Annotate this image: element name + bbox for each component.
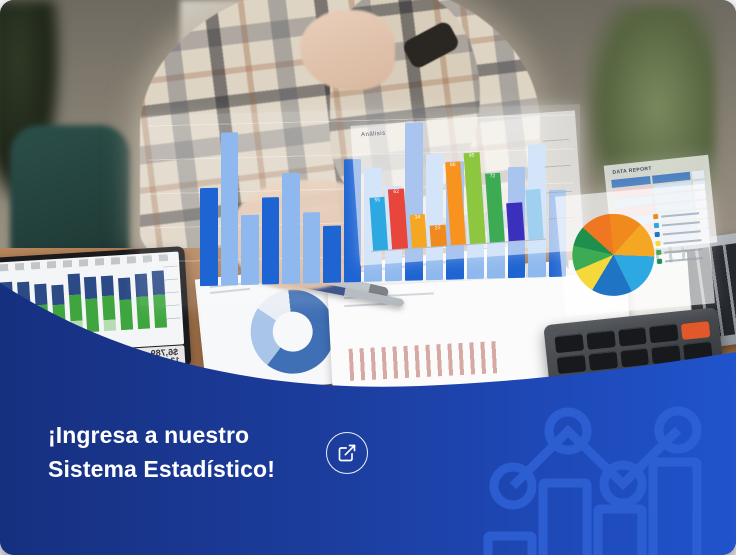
headline-line-1: ¡Ingresa a nuestro	[48, 422, 249, 448]
external-link-button[interactable]	[326, 432, 368, 474]
external-link-icon	[337, 443, 357, 463]
headline-line-2: Sistema Estadístico!	[48, 453, 348, 487]
banner-headline: ¡Ingresa a nuestro Sistema Estadístico!	[48, 419, 348, 487]
statistics-banner-card: $6,789 13,678	[0, 0, 736, 555]
